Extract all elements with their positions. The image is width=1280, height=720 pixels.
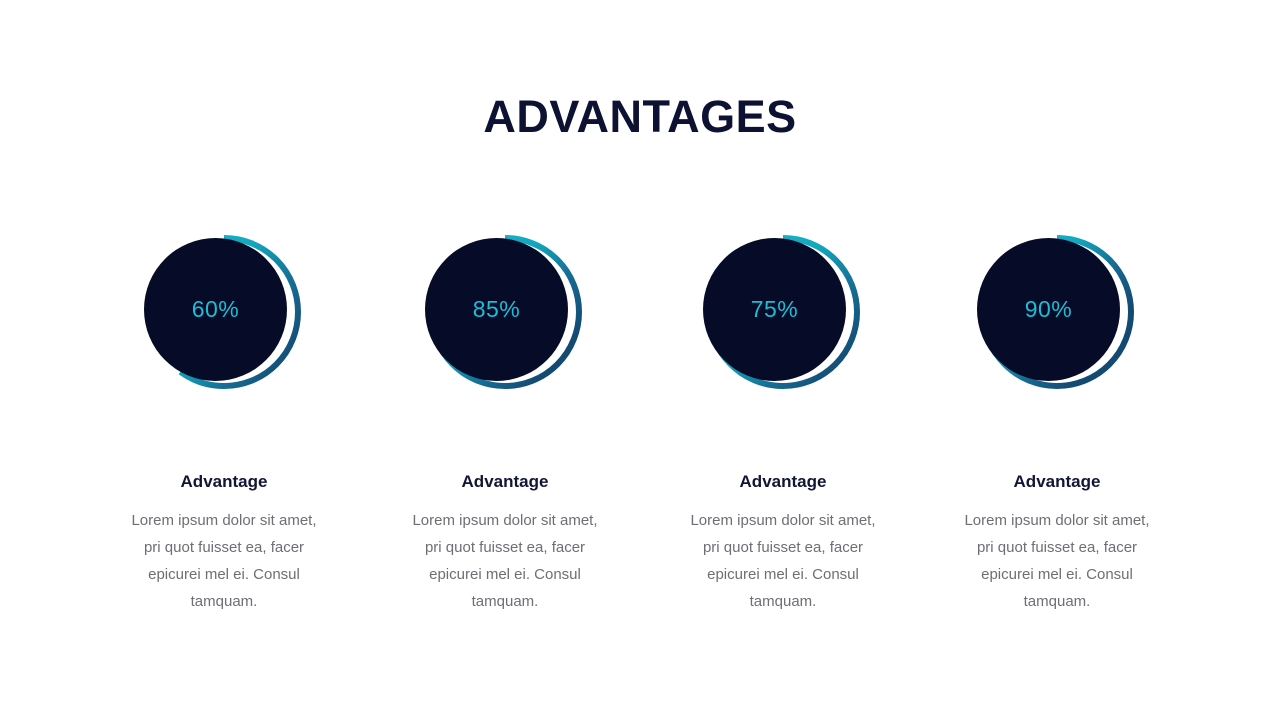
advantage-title-1: Advantage	[181, 473, 268, 490]
advantage-description-2: Lorem ipsum dolor sit amet, pri quot fui…	[405, 508, 605, 615]
advantages-row: 60% Advantage Lorem ipsum dolor sit amet…	[0, 228, 1280, 615]
page-title: ADVANTAGES	[0, 94, 1280, 139]
progress-gauge-1: 60%	[140, 228, 308, 396]
gauge-value-2: 85%	[425, 238, 568, 381]
advantage-title-4: Advantage	[1014, 473, 1101, 490]
advantage-card-2[interactable]: 85% Advantage Lorem ipsum dolor sit amet…	[366, 228, 644, 615]
advantage-description-4: Lorem ipsum dolor sit amet, pri quot fui…	[957, 508, 1157, 615]
gauge-value-1: 60%	[144, 238, 287, 381]
progress-gauge-2: 85%	[421, 228, 589, 396]
advantage-description-1: Lorem ipsum dolor sit amet, pri quot fui…	[124, 508, 324, 615]
advantage-description-3: Lorem ipsum dolor sit amet, pri quot fui…	[683, 508, 883, 615]
progress-gauge-3: 75%	[699, 228, 867, 396]
advantage-title-2: Advantage	[462, 473, 549, 490]
advantage-title-3: Advantage	[740, 473, 827, 490]
gauge-value-4: 90%	[977, 238, 1120, 381]
advantage-card-4[interactable]: 90% Advantage Lorem ipsum dolor sit amet…	[918, 228, 1196, 615]
gauge-value-3: 75%	[703, 238, 846, 381]
advantage-card-3[interactable]: 75% Advantage Lorem ipsum dolor sit amet…	[644, 228, 922, 615]
progress-gauge-4: 90%	[973, 228, 1141, 396]
slide-canvas: ADVANTAGES 60	[0, 0, 1280, 720]
advantage-card-1[interactable]: 60% Advantage Lorem ipsum dolor sit amet…	[85, 228, 363, 615]
